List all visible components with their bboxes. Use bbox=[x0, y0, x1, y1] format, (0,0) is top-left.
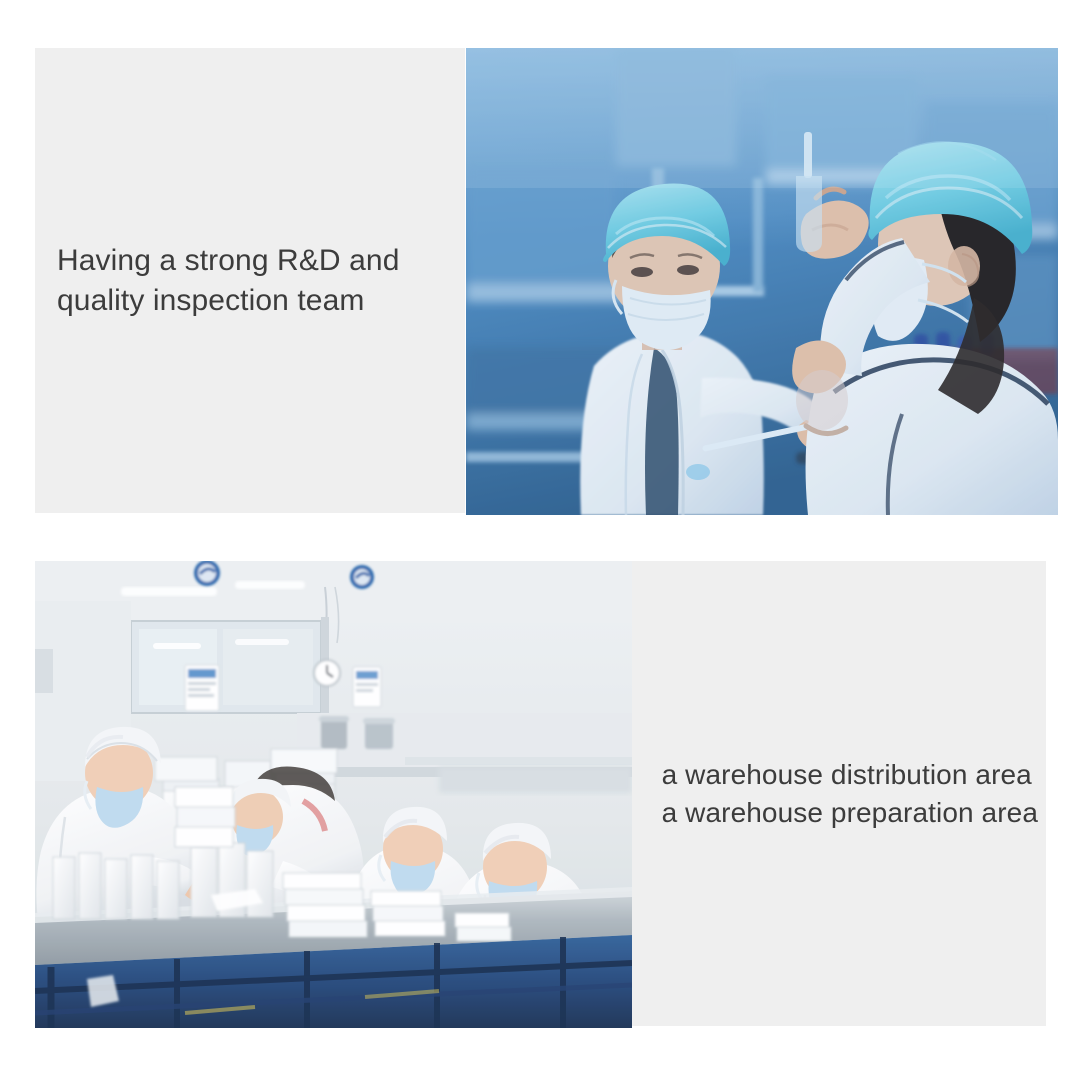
warehouse-packing-photo bbox=[35, 561, 632, 1028]
lab-inspection-illustration bbox=[466, 48, 1058, 515]
rnd-caption: Having a strong R&D and quality inspecti… bbox=[35, 241, 409, 320]
warehouse-packing-illustration bbox=[35, 561, 632, 1028]
rnd-text-panel: Having a strong R&D and quality inspecti… bbox=[35, 48, 465, 513]
warehouse-caption: a warehouse distribution area a warehous… bbox=[652, 756, 1046, 832]
layout-board: Having a strong R&D and quality inspecti… bbox=[0, 0, 1080, 1080]
lab-inspection-photo bbox=[466, 48, 1058, 515]
warehouse-text-panel: a warehouse distribution area a warehous… bbox=[632, 561, 1046, 1026]
